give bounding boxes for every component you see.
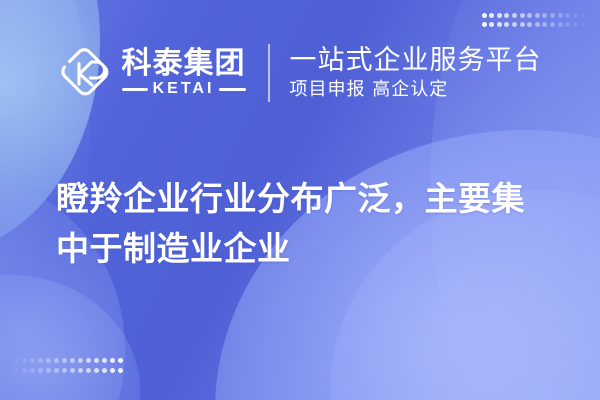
dot-icon — [46, 358, 51, 363]
dot-icon — [504, 22, 509, 27]
dot-icon — [70, 358, 75, 363]
dot-icon — [573, 13, 578, 18]
dot-icon — [482, 13, 487, 18]
promo-banner: 科泰集团 KETAI 一站式企业服务平台 项目申报 高企认定 瞪羚企业行业分布广… — [0, 0, 600, 400]
dot-icon — [62, 358, 67, 363]
dot-icon — [78, 358, 83, 363]
tagline-sub: 项目申报 高企认定 — [290, 80, 542, 100]
dot-icon — [94, 368, 99, 373]
dot-grid-icon-top-right — [482, 13, 588, 31]
dot-icon — [512, 22, 517, 27]
dot-icon — [30, 368, 35, 373]
dot-icon — [62, 368, 67, 373]
dot-icon — [565, 13, 570, 18]
dot-icon — [565, 22, 570, 27]
dot-icon — [38, 368, 43, 373]
dot-icon — [520, 22, 525, 27]
dot-icon — [110, 358, 115, 363]
dot-icon — [102, 358, 107, 363]
dot-icon — [550, 22, 555, 27]
dot-icon — [520, 13, 525, 18]
dot-icon — [558, 22, 563, 27]
dot-icon — [512, 13, 517, 18]
dot-icon — [78, 368, 83, 373]
dot-icon — [535, 22, 540, 27]
dot-icon — [118, 368, 123, 373]
dot-icon — [70, 368, 75, 373]
dot-icon — [86, 368, 91, 373]
dot-icon — [38, 358, 43, 363]
rule-right-icon — [219, 88, 245, 91]
dot-icon — [86, 358, 91, 363]
vertical-divider-icon — [268, 44, 270, 102]
brand-name-cn: 科泰集团 — [122, 49, 246, 79]
dot-grid-icon-bottom-left — [14, 358, 126, 378]
dot-icon — [102, 368, 107, 373]
dot-icon — [94, 358, 99, 363]
brand-tagline: 一站式企业服务平台 项目申报 高企认定 — [290, 46, 542, 99]
brand-name-en: KETAI — [153, 81, 215, 97]
dot-icon — [110, 368, 115, 373]
dot-icon — [527, 22, 532, 27]
banner-header: 科泰集团 KETAI 一站式企业服务平台 项目申报 高企认定 — [0, 44, 600, 102]
rule-left-icon — [122, 88, 148, 91]
dot-icon — [489, 22, 494, 27]
dot-icon — [489, 13, 494, 18]
brand-logo[interactable]: 科泰集团 KETAI — [59, 47, 246, 99]
dot-icon — [558, 13, 563, 18]
dot-icon — [497, 22, 502, 27]
dot-icon — [542, 22, 547, 27]
dot-icon — [54, 368, 59, 373]
dot-icon — [497, 13, 502, 18]
dot-icon — [54, 358, 59, 363]
page-title: 瞪羚企业行业分布广泛，主要集中于制造业企业 — [56, 174, 556, 274]
dot-icon — [573, 22, 578, 27]
dot-icon — [30, 358, 35, 363]
background-blob-bottom-left — [0, 275, 140, 400]
brand-name-en-row: KETAI — [122, 81, 246, 97]
dot-icon — [527, 13, 532, 18]
dot-icon — [118, 358, 123, 363]
dot-icon — [550, 13, 555, 18]
dot-icon — [580, 13, 585, 18]
tagline-main: 一站式企业服务平台 — [290, 46, 542, 76]
dot-icon — [535, 13, 540, 18]
ketai-kp-monogram-icon — [59, 47, 111, 99]
dot-icon — [580, 22, 585, 27]
dot-icon — [482, 22, 487, 27]
brand-wordmark: 科泰集团 KETAI — [122, 49, 246, 97]
dot-icon — [504, 13, 509, 18]
dot-icon — [14, 358, 19, 363]
dot-icon — [22, 368, 27, 373]
dot-icon — [22, 358, 27, 363]
dot-icon — [14, 368, 19, 373]
dot-icon — [46, 368, 51, 373]
dot-icon — [542, 13, 547, 18]
